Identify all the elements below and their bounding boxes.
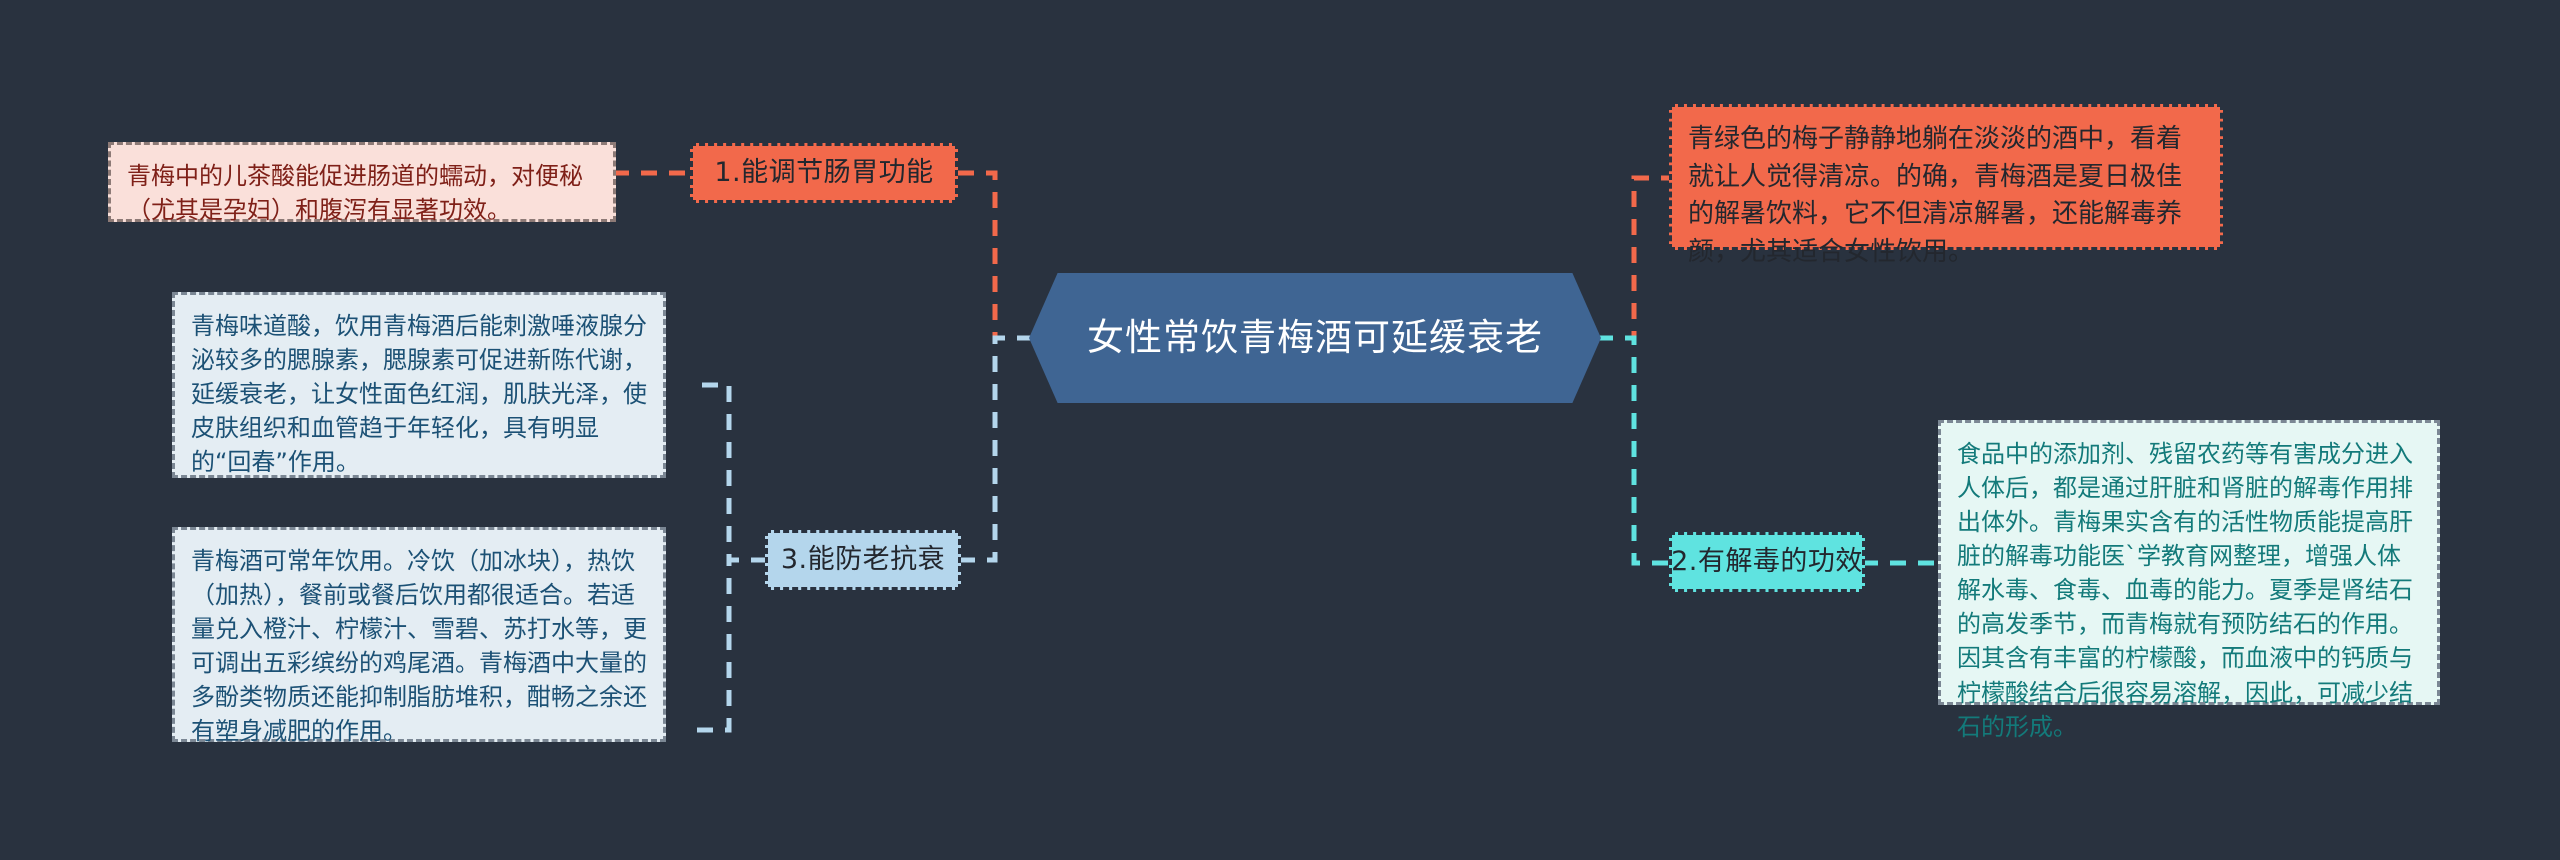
detail-block-3b-text: 青梅酒可常年饮用。冷饮（加冰块），热饮（加热），餐前或餐后饮用都很适合。若适量兑… [191,547,647,745]
connector-center-to-detail1b [1597,178,1672,338]
detail-block-1b[interactable]: 青绿色的梅子静静地躺在淡淡的酒中，看着就让人觉得清凉。的确，青梅酒是夏日极佳的解… [1669,104,2223,250]
branch-label-3[interactable]: 3.能防老抗衰 [765,530,961,590]
detail-block-1a-text: 青梅中的儿茶酸能促进肠道的蠕动，对便秘（尤其是孕妇）和腹泻有显著功效。 [127,162,583,224]
connector-center-to-branch2 [1597,338,1672,563]
detail-block-1a[interactable]: 青梅中的儿茶酸能促进肠道的蠕动，对便秘（尤其是孕妇）和腹泻有显著功效。 [108,142,616,222]
detail-block-3a[interactable]: 青梅味道酸，饮用青梅酒后能刺激唾液腺分泌较多的腮腺素，腮腺素可促进新陈代谢，延缓… [172,292,666,478]
branch-label-2[interactable]: 2.有解毒的功效 [1669,532,1865,592]
center-node[interactable]: 女性常饮青梅酒可延缓衰老 [1029,273,1601,403]
detail-block-3a-text: 青梅味道酸，饮用青梅酒后能刺激唾液腺分泌较多的腮腺素，腮腺素可促进新陈代谢，延缓… [191,312,647,476]
detail-block-3b[interactable]: 青梅酒可常年饮用。冷饮（加冰块），热饮（加热），餐前或餐后饮用都很适合。若适量兑… [172,527,666,742]
branch-label-3-text: 3.能防老抗衰 [781,543,945,577]
detail-block-1b-text: 青绿色的梅子静静地躺在淡淡的酒中，看着就让人觉得清凉。的确，青梅酒是夏日极佳的解… [1688,124,2182,267]
detail-block-2a[interactable]: 食品中的添加剂、残留农药等有害成分进入人体后，都是通过肝脏和肾脏的解毒作用排出体… [1938,420,2440,705]
center-node-title: 女性常饮青梅酒可延缓衰老 [1029,273,1601,403]
connector-center-to-branch3 [957,338,1033,560]
branch-label-2-text: 2.有解毒的功效 [1671,545,1863,579]
connector-branch3-bracket-lower [690,560,767,730]
branch-label-1-text: 1.能调节肠胃功能 [714,156,933,190]
connector-branch3-bracket [690,385,767,560]
detail-block-2a-text: 食品中的添加剂、残留农药等有害成分进入人体后，都是通过肝脏和肾脏的解毒作用排出体… [1957,440,2413,741]
connector-branch1-to-center [958,173,1033,338]
branch-label-1[interactable]: 1.能调节肠胃功能 [690,143,958,203]
